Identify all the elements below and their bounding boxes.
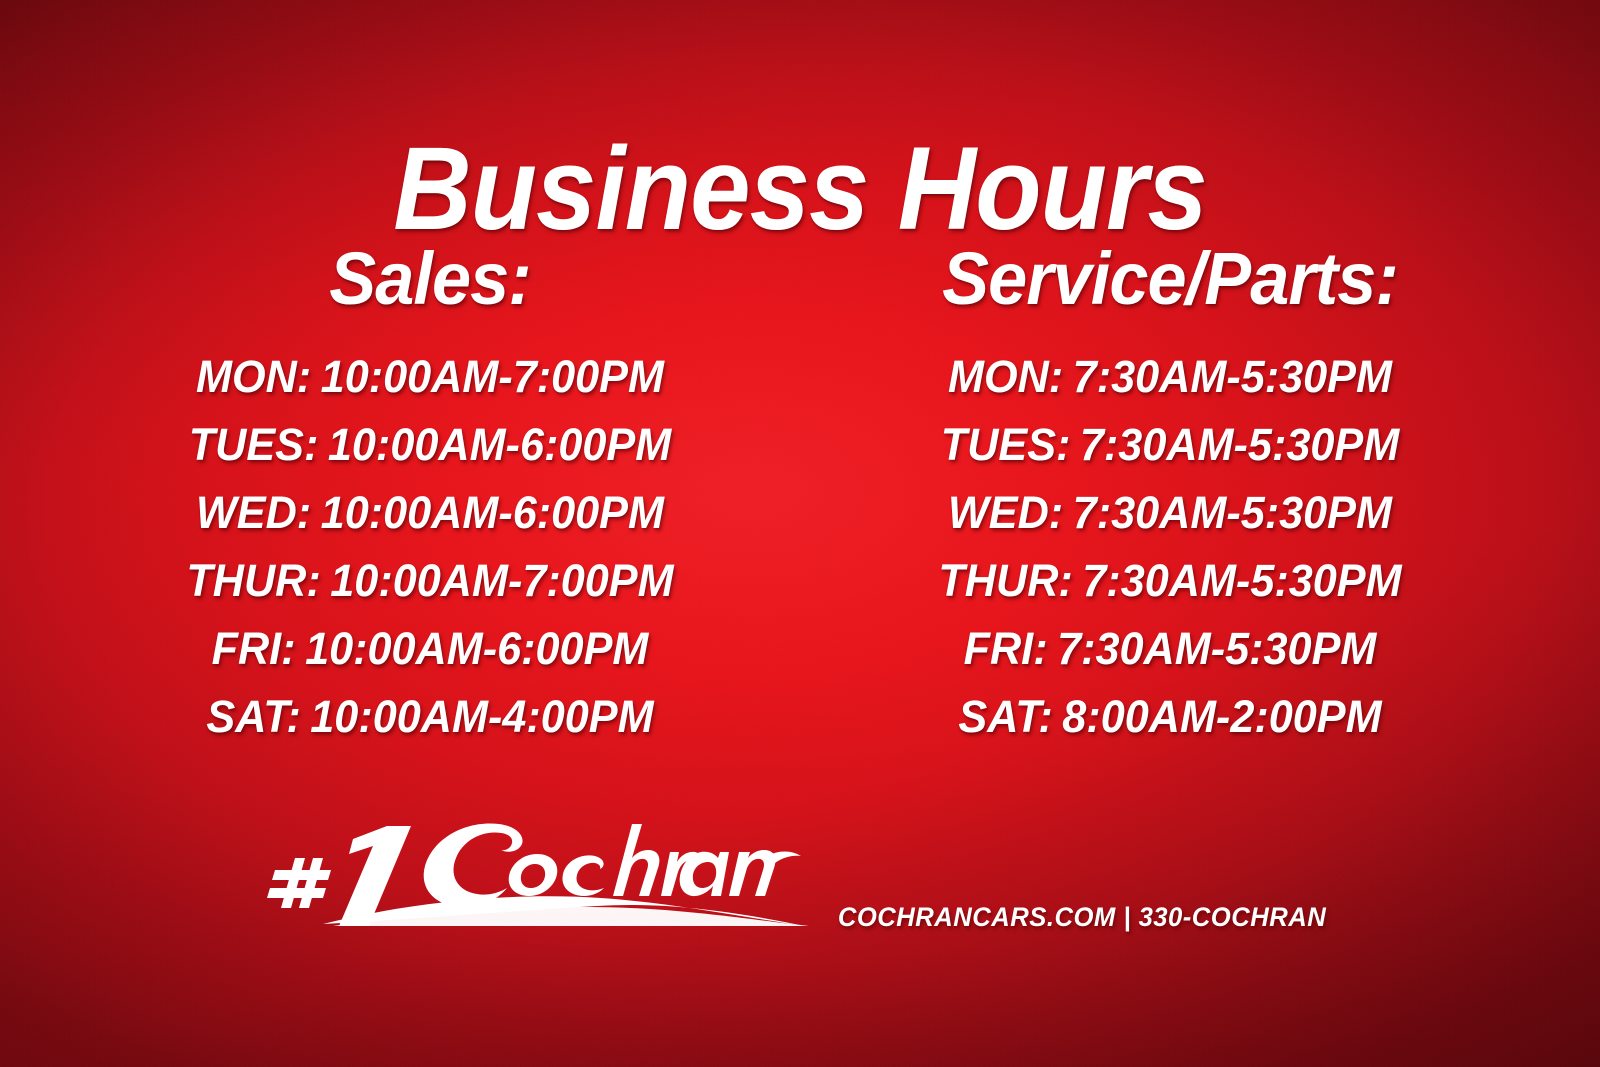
column-heading-service-parts: Service/Parts: [819, 238, 1522, 321]
hours-value: 10:00AM-4:00PM [310, 691, 653, 742]
hours-row: MON:7:30AM-5:30PM [815, 343, 1525, 411]
hours-row: WED:7:30AM-5:30PM [815, 479, 1525, 547]
hours-value: 10:00AM-6:00PM [328, 419, 671, 470]
hours-value: 7:30AM-5:30PM [1057, 623, 1376, 674]
day-label: TUES: [189, 419, 319, 470]
hours-column-service-parts: Service/Parts: MON:7:30AM-5:30PM TUES:7:… [800, 238, 1540, 751]
page-title: Business Hours [64, 127, 1536, 252]
number-one-cochran-logo [261, 806, 821, 926]
hours-value: 8:00AM-2:00PM [1062, 691, 1381, 742]
day-label: SAT: [206, 691, 300, 742]
hours-value: 7:30AM-5:30PM [1073, 351, 1392, 402]
cochran-wordmark-icon [261, 806, 821, 926]
poster-content: Business Hours Sales: MON:10:00AM-7:00PM… [0, 0, 1600, 1067]
logo-tagline: COCHRANCARS.COM | 330-COCHRAN [838, 902, 1326, 933]
hours-row: FRI:7:30AM-5:30PM [815, 615, 1525, 683]
day-label: SAT: [958, 691, 1052, 742]
hours-row: TUES:10:00AM-6:00PM [75, 411, 785, 479]
hours-list-sales: MON:10:00AM-7:00PM TUES:10:00AM-6:00PM W… [60, 343, 800, 751]
column-heading-sales: Sales: [79, 238, 782, 321]
hours-value: 7:30AM-5:30PM [1080, 419, 1399, 470]
hours-list-service-parts: MON:7:30AM-5:30PM TUES:7:30AM-5:30PM WED… [800, 343, 1540, 751]
day-label: TUES: [941, 419, 1071, 470]
hours-row: SAT:10:00AM-4:00PM [75, 683, 785, 751]
hours-value: 10:00AM-7:00PM [321, 351, 664, 402]
hours-value: 10:00AM-6:00PM [321, 487, 664, 538]
day-label: MON: [948, 351, 1063, 402]
hours-value: 7:30AM-5:30PM [1073, 487, 1392, 538]
day-label: WED: [196, 487, 311, 538]
hours-row: THUR:10:00AM-7:00PM [75, 547, 785, 615]
hours-row: TUES:7:30AM-5:30PM [815, 411, 1525, 479]
hours-value: 7:30AM-5:30PM [1082, 555, 1401, 606]
hours-row: MON:10:00AM-7:00PM [75, 343, 785, 411]
brand-logo-block: COCHRANCARS.COM | 330-COCHRAN [0, 806, 1600, 933]
hours-column-sales: Sales: MON:10:00AM-7:00PM TUES:10:00AM-6… [60, 238, 800, 751]
hours-columns: Sales: MON:10:00AM-7:00PM TUES:10:00AM-6… [60, 238, 1540, 751]
day-label: FRI: [212, 623, 296, 674]
day-label: WED: [948, 487, 1063, 538]
day-label: FRI: [964, 623, 1048, 674]
hours-row: WED:10:00AM-6:00PM [75, 479, 785, 547]
business-hours-poster: Business Hours Sales: MON:10:00AM-7:00PM… [0, 0, 1600, 1067]
day-label: MON: [196, 351, 311, 402]
hours-value: 10:00AM-6:00PM [305, 623, 648, 674]
day-label: THUR: [186, 555, 320, 606]
hours-value: 10:00AM-7:00PM [330, 555, 673, 606]
day-label: THUR: [938, 555, 1072, 606]
hours-row: SAT:8:00AM-2:00PM [815, 683, 1525, 751]
hours-row: THUR:7:30AM-5:30PM [815, 547, 1525, 615]
hours-row: FRI:10:00AM-6:00PM [75, 615, 785, 683]
